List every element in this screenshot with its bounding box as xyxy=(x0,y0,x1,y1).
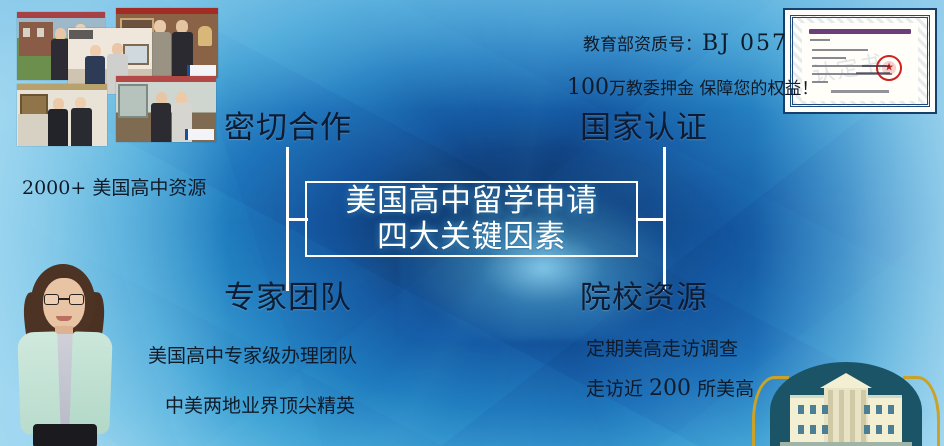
certificate-title-line xyxy=(809,29,911,34)
center-title-line2: 四大关键因素 xyxy=(377,219,566,255)
consultant-portrait xyxy=(5,258,123,446)
connector-line-right-stub xyxy=(636,218,666,221)
quadrant-heading-expert-team: 专家团队 xyxy=(224,281,352,315)
quadrant-heading-close-cooperation: 密切合作 xyxy=(224,111,352,145)
deposit-rest: 万教委押金 保障您的权益！ xyxy=(609,79,818,99)
official-seal-icon xyxy=(876,55,902,81)
collage-photo xyxy=(17,84,107,146)
eyeglasses-icon xyxy=(44,294,84,305)
visit-count-pre: 走访近 xyxy=(586,378,649,400)
quadrant-heading-national-accreditation: 国家认证 xyxy=(580,111,708,145)
school-visit-photo-collage xyxy=(8,4,228,144)
deposit-amount: 100 xyxy=(567,75,609,100)
white-house-illustration xyxy=(752,360,940,446)
center-title-line1: 美国高中留学申请 xyxy=(346,183,598,219)
center-title: 美国高中留学申请 四大关键因素 xyxy=(305,181,638,257)
visit-count-post: 所美高 xyxy=(691,378,754,400)
caption-team-line1: 美国高中专家级办理团队 xyxy=(148,341,357,368)
caption-team-line2: 中美两地业界顶尖精英 xyxy=(165,391,355,418)
caption-school-visit: 定期美高走访调查 xyxy=(586,334,738,361)
quadrant-heading-school-resources: 院校资源 xyxy=(580,281,708,315)
collage-photo xyxy=(116,76,216,142)
certificate-watermark: 认定书 xyxy=(810,45,886,89)
caption-deposit: 100万教委押金 保障您的权益！ xyxy=(567,74,818,100)
visit-count-number: 200 xyxy=(649,376,691,401)
caption-education-license: 教育部资质号：BJ 057 xyxy=(583,30,788,56)
promo-banner: 认定书 xyxy=(0,0,944,446)
caption-school-visit-count: 走访近 200 所美高 xyxy=(586,374,754,401)
caption-school-count: 2000+ 美国高中资源 xyxy=(22,173,206,200)
education-license-label: 教育部资质号： xyxy=(583,35,702,55)
education-license-code: BJ 057 xyxy=(702,31,788,56)
